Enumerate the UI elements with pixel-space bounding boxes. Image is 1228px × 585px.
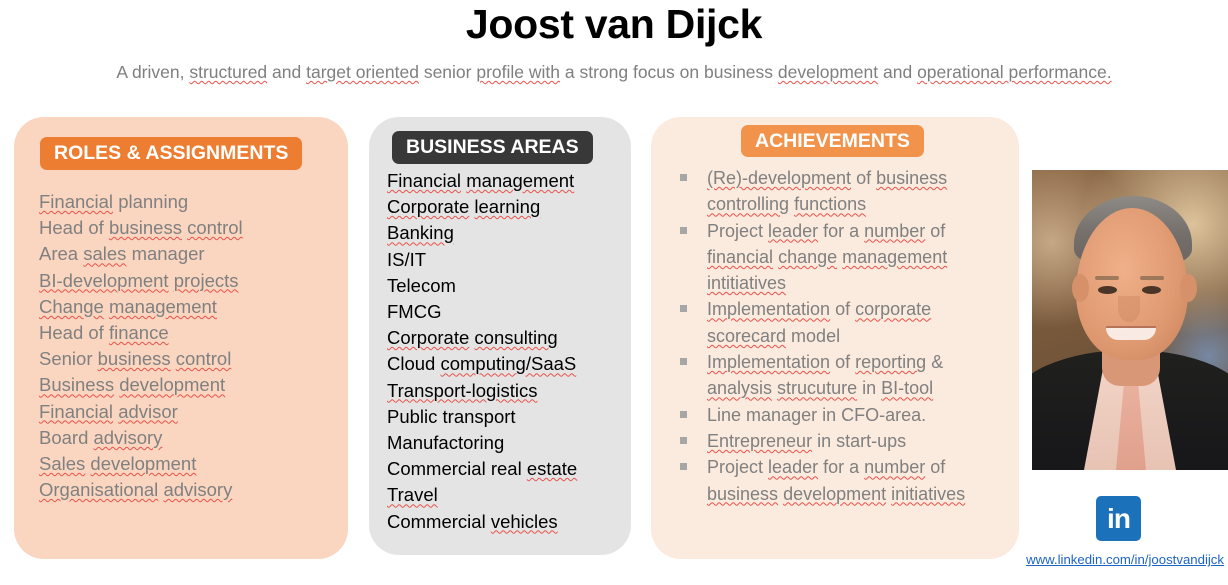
achievements-list-item: Implementation of reporting & analysis s… bbox=[673, 349, 1003, 402]
roles-list-item: Board advisory bbox=[39, 425, 339, 451]
word: Financial bbox=[39, 401, 113, 422]
square-bullet-icon bbox=[680, 305, 687, 312]
word: analysis bbox=[707, 378, 772, 398]
roles-list-item: Senior business control bbox=[39, 346, 339, 372]
word: Line bbox=[707, 405, 741, 425]
word: CFO-area. bbox=[841, 405, 926, 425]
word: projects bbox=[174, 270, 239, 291]
card-achievements: ACHIEVEMENTS (Re)-development of busines… bbox=[651, 117, 1019, 559]
word: transport bbox=[443, 406, 516, 427]
business-areas-list-item: Commercial vehicles bbox=[387, 509, 627, 535]
word: business bbox=[876, 168, 947, 188]
word: business bbox=[707, 484, 778, 504]
word: Head bbox=[39, 217, 83, 238]
achievements-list: (Re)-development of business controlling… bbox=[673, 165, 1003, 507]
word: control bbox=[187, 217, 243, 238]
word: in bbox=[817, 431, 831, 451]
photo-ear-right bbox=[1180, 274, 1197, 302]
word: Financial bbox=[39, 191, 113, 212]
word: Commercial bbox=[387, 511, 486, 532]
word: control bbox=[176, 348, 232, 369]
word: Organisational bbox=[39, 479, 158, 500]
word: a bbox=[849, 457, 859, 477]
photo-nose bbox=[1118, 296, 1140, 322]
word: Corporate bbox=[387, 327, 469, 348]
word: Manufactoring bbox=[387, 432, 504, 453]
subtitle-misspelled-text: operational performance. bbox=[917, 62, 1112, 82]
word: development bbox=[119, 374, 225, 395]
word: initiatives bbox=[891, 484, 965, 504]
word: Change bbox=[39, 296, 104, 317]
card-achievements-heading: ACHIEVEMENTS bbox=[741, 125, 924, 157]
word: Senior bbox=[39, 348, 92, 369]
word: development bbox=[783, 484, 886, 504]
subtitle-text: and bbox=[878, 62, 917, 82]
word: BI-tool bbox=[881, 378, 933, 398]
word: of bbox=[930, 457, 945, 477]
word: number bbox=[864, 457, 925, 477]
square-bullet-icon bbox=[680, 358, 687, 365]
word: strucuture bbox=[777, 378, 857, 398]
subtitle-text: senior bbox=[419, 62, 476, 82]
roles-list-item: Head of finance bbox=[39, 320, 339, 346]
word: real bbox=[491, 458, 522, 479]
business-areas-list-item: IS/IT bbox=[387, 247, 627, 273]
word: Business bbox=[39, 374, 114, 395]
word: Cloud bbox=[387, 353, 435, 374]
word: of bbox=[88, 217, 103, 238]
word: computing/SaaS bbox=[440, 353, 576, 374]
word: a bbox=[849, 221, 859, 241]
word: Banking bbox=[387, 222, 454, 243]
card-areas-heading: BUSINESS AREAS bbox=[392, 131, 593, 164]
word: advisory bbox=[163, 479, 232, 500]
word: start-ups bbox=[836, 431, 906, 451]
card-roles-heading: ROLES & ASSIGNMENTS bbox=[40, 137, 302, 170]
photo-mouth bbox=[1106, 328, 1156, 340]
square-bullet-icon bbox=[680, 227, 687, 234]
business-areas-list-item: Cloud computing/SaaS bbox=[387, 351, 627, 377]
business-areas-list-item: Corporate learning bbox=[387, 194, 627, 220]
roles-list-item: Organisational advisory bbox=[39, 477, 339, 503]
word: functions bbox=[794, 194, 866, 214]
word: advisor bbox=[118, 401, 178, 422]
roles-list-item: Financial advisor bbox=[39, 399, 339, 425]
photo-eye-left bbox=[1098, 286, 1117, 294]
business-areas-list-item: Financial management bbox=[387, 168, 627, 194]
word: estate bbox=[527, 458, 577, 479]
profile-photo bbox=[1032, 170, 1228, 470]
word: for bbox=[823, 221, 844, 241]
achievements-list-item: Project leader for a number of financial… bbox=[673, 218, 1003, 297]
business-areas-list-item: Manufactoring bbox=[387, 430, 627, 456]
word: business bbox=[98, 348, 171, 369]
business-areas-list-item: FMCG bbox=[387, 299, 627, 325]
business-areas-list-item: Public transport bbox=[387, 404, 627, 430]
square-bullet-icon bbox=[680, 463, 687, 470]
subtitle-misspelled-text: development bbox=[778, 62, 878, 82]
business-areas-list-item: Transport-logistics bbox=[387, 378, 627, 404]
roles-list: Financial planningHead of business contr… bbox=[39, 189, 339, 503]
business-areas-list-item: Telecom bbox=[387, 273, 627, 299]
word: of bbox=[930, 221, 945, 241]
word: BI-development bbox=[39, 270, 169, 291]
word: of bbox=[856, 168, 871, 188]
business-areas-list-item: Banking bbox=[387, 220, 627, 246]
word: Public bbox=[387, 406, 437, 427]
word: consulting bbox=[474, 327, 557, 348]
achievements-item-text: Entrepreneur in start-ups bbox=[707, 431, 906, 451]
word: of bbox=[88, 322, 103, 343]
achievements-item-text: Line manager in CFO-area. bbox=[707, 405, 926, 425]
word: corporate bbox=[855, 299, 931, 319]
word: Corporate bbox=[387, 196, 469, 217]
subtitle-text: and bbox=[267, 62, 306, 82]
word: of bbox=[835, 299, 850, 319]
photo-ear-left bbox=[1072, 274, 1089, 302]
subtitle-misspelled-text: target oriented bbox=[306, 62, 419, 82]
word: Sales bbox=[39, 453, 85, 474]
business-areas-list-item: Travel bbox=[387, 482, 627, 508]
word: leader bbox=[768, 457, 818, 477]
word: in bbox=[862, 378, 876, 398]
word: vehicles bbox=[491, 511, 558, 532]
roles-list-item: Financial planning bbox=[39, 189, 339, 215]
word: leader bbox=[768, 221, 818, 241]
achievements-list-item: (Re)-development of business controlling… bbox=[673, 165, 1003, 218]
word: Implementation bbox=[707, 299, 830, 319]
word: management bbox=[466, 170, 574, 191]
word: IS/IT bbox=[387, 249, 426, 270]
word: FMCG bbox=[387, 301, 441, 322]
subtitle-misspelled-text: structured bbox=[189, 62, 267, 82]
business-areas-list: Financial managementCorporate learningBa… bbox=[387, 168, 627, 535]
word: management bbox=[109, 296, 217, 317]
linkedin-icon[interactable]: in bbox=[1096, 496, 1141, 541]
achievements-item-text: Implementation of reporting & analysis s… bbox=[707, 352, 943, 398]
roles-list-item: Business development bbox=[39, 372, 339, 398]
achievements-list-item: Project leader for a number of business … bbox=[673, 454, 1003, 507]
word: Project bbox=[707, 221, 763, 241]
photo-eye-right bbox=[1142, 286, 1161, 294]
achievements-list-item: Implementation of corporate scorecard mo… bbox=[673, 296, 1003, 349]
word: financial bbox=[707, 247, 773, 267]
word: Travel bbox=[387, 484, 438, 505]
achievements-list-item: Line manager in CFO-area. bbox=[673, 402, 1003, 428]
business-areas-list-item: Corporate consulting bbox=[387, 325, 627, 351]
subtitle-text: a strong focus on business bbox=[560, 62, 778, 82]
business-areas-list-item: Commercial real estate bbox=[387, 456, 627, 482]
word: controlling bbox=[707, 194, 789, 214]
word: Project bbox=[707, 457, 763, 477]
word: Financial bbox=[387, 170, 461, 191]
page-title: Joost van Dijck bbox=[0, 0, 1228, 48]
square-bullet-icon bbox=[680, 411, 687, 418]
word: Head bbox=[39, 322, 83, 343]
word: of bbox=[835, 352, 850, 372]
subtitle-misspelled-text: profile with bbox=[476, 62, 560, 82]
word: planning bbox=[118, 191, 188, 212]
word: Transport-logistics bbox=[387, 380, 537, 401]
roles-list-item: Change management bbox=[39, 294, 339, 320]
word: advisory bbox=[94, 427, 163, 448]
achievements-item-text: Implementation of corporate scorecard mo… bbox=[707, 299, 931, 345]
word: for bbox=[823, 457, 844, 477]
word: learning bbox=[474, 196, 540, 217]
word: reporting bbox=[855, 352, 926, 372]
word: Area bbox=[39, 243, 78, 264]
achievements-item-text: Project leader for a number of business … bbox=[707, 457, 965, 503]
word: Implementation bbox=[707, 352, 830, 372]
word: & bbox=[931, 352, 943, 372]
word: number bbox=[864, 221, 925, 241]
photo-brow-right bbox=[1140, 276, 1164, 280]
subtitle-text: A driven, bbox=[116, 62, 189, 82]
word: business bbox=[109, 217, 182, 238]
page-subtitle: A driven, structured and target oriented… bbox=[0, 60, 1228, 84]
achievements-item-text: Project leader for a number of financial… bbox=[707, 221, 947, 294]
word: Commercial bbox=[387, 458, 486, 479]
square-bullet-icon bbox=[680, 174, 687, 181]
roles-list-item: Sales development bbox=[39, 451, 339, 477]
slide-canvas: Joost van Dijck A driven, structured and… bbox=[0, 0, 1228, 585]
word: manager bbox=[746, 405, 817, 425]
word: management bbox=[842, 247, 947, 267]
roles-list-item: BI-development projects bbox=[39, 268, 339, 294]
roles-list-item: Head of business control bbox=[39, 215, 339, 241]
word: Entrepreneur bbox=[707, 431, 812, 451]
linkedin-url-link[interactable]: www.linkedin.com/in/joostvandijck bbox=[960, 552, 1228, 567]
word: intitiatives bbox=[707, 273, 786, 293]
square-bullet-icon bbox=[680, 437, 687, 444]
word: Telecom bbox=[387, 275, 456, 296]
word: development bbox=[90, 453, 196, 474]
word: Board bbox=[39, 427, 88, 448]
word: model bbox=[791, 326, 840, 346]
word: sales bbox=[83, 243, 126, 264]
roles-list-item: Area sales manager bbox=[39, 241, 339, 267]
achievements-item-text: (Re)-development of business controlling… bbox=[707, 168, 947, 214]
word: change bbox=[778, 247, 837, 267]
achievements-list-item: Entrepreneur in start-ups bbox=[673, 428, 1003, 454]
card-roles-assignments: ROLES & ASSIGNMENTS Financial planningHe… bbox=[14, 117, 348, 559]
word: finance bbox=[109, 322, 169, 343]
word: scorecard bbox=[707, 326, 786, 346]
photo-brow-left bbox=[1095, 276, 1119, 280]
word: manager bbox=[132, 243, 205, 264]
word: (Re)-development bbox=[707, 168, 851, 188]
card-business-areas: BUSINESS AREAS Financial managementCorpo… bbox=[369, 117, 631, 555]
word: in bbox=[822, 405, 836, 425]
